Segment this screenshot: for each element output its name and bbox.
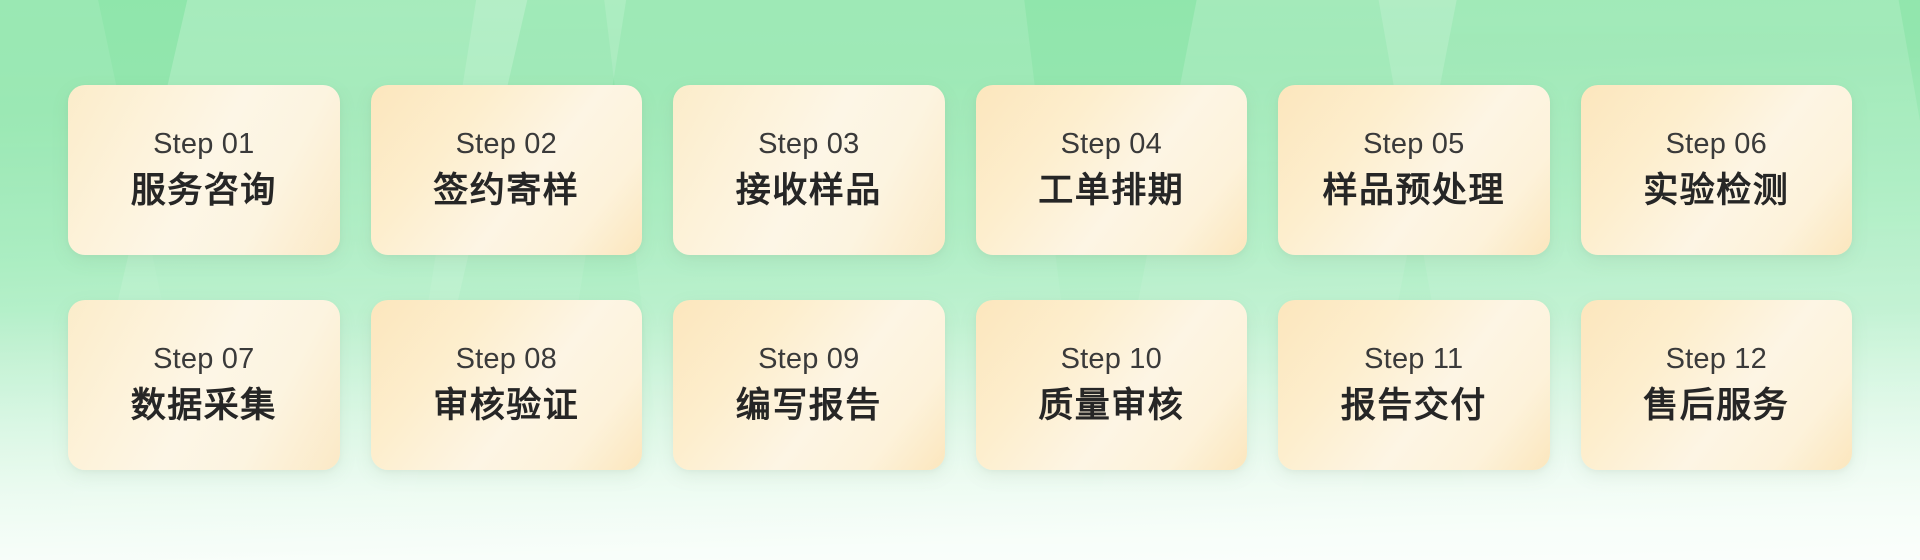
step-number: Step 01	[153, 127, 254, 163]
step-number: Step 06	[1666, 127, 1767, 163]
step-label: 售后服务	[1643, 385, 1789, 426]
step-card-09[interactable]: Step 09 编写报告	[673, 300, 945, 470]
step-label: 质量审核	[1038, 385, 1184, 426]
step-label: 报告交付	[1341, 385, 1487, 426]
step-card-08[interactable]: Step 08 审核验证	[371, 300, 643, 470]
step-number: Step 11	[1364, 342, 1463, 378]
step-number: Step 05	[1363, 127, 1464, 163]
step-label: 样品预处理	[1322, 170, 1505, 211]
step-label: 审核验证	[433, 385, 579, 426]
process-steps-grid: Step 01 服务咨询 Step 02 签约寄样 Step 03 接收样品 S…	[68, 85, 1852, 470]
step-number: Step 02	[456, 127, 557, 163]
step-label: 编写报告	[736, 385, 882, 426]
step-number: Step 10	[1061, 342, 1162, 378]
step-number: Step 04	[1061, 127, 1162, 163]
step-card-03[interactable]: Step 03 接收样品	[673, 85, 945, 255]
step-card-10[interactable]: Step 10 质量审核	[976, 300, 1248, 470]
step-label: 工单排期	[1038, 170, 1184, 211]
step-number: Step 03	[758, 127, 859, 163]
step-label: 数据采集	[131, 385, 277, 426]
step-label: 服务咨询	[131, 170, 277, 211]
step-number: Step 09	[758, 342, 859, 378]
step-card-05[interactable]: Step 05 样品预处理	[1278, 85, 1550, 255]
step-card-06[interactable]: Step 06 实验检测	[1581, 85, 1853, 255]
step-number: Step 08	[456, 342, 557, 378]
step-label: 签约寄样	[433, 170, 579, 211]
step-number: Step 12	[1666, 342, 1767, 378]
step-label: 接收样品	[736, 170, 882, 211]
step-card-02[interactable]: Step 02 签约寄样	[371, 85, 643, 255]
step-label: 实验检测	[1643, 170, 1789, 211]
step-card-11[interactable]: Step 11 报告交付	[1278, 300, 1550, 470]
process-steps-banner: Step 01 服务咨询 Step 02 签约寄样 Step 03 接收样品 S…	[0, 0, 1920, 560]
step-card-04[interactable]: Step 04 工单排期	[976, 85, 1248, 255]
step-card-12[interactable]: Step 12 售后服务	[1581, 300, 1853, 470]
step-card-01[interactable]: Step 01 服务咨询	[68, 85, 340, 255]
step-number: Step 07	[153, 342, 254, 378]
step-card-07[interactable]: Step 07 数据采集	[68, 300, 340, 470]
